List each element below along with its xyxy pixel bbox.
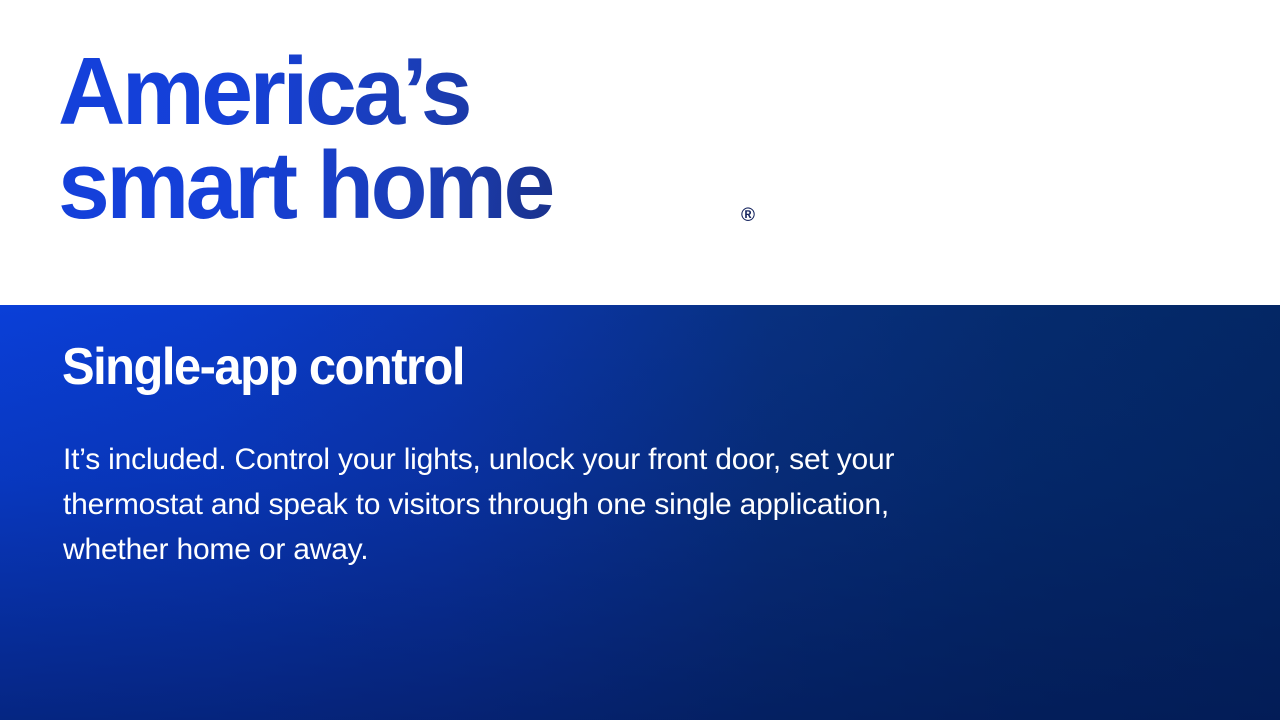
- content-panel: Single-app control It’s included. Contro…: [0, 305, 1280, 720]
- page-title: Single-app control: [62, 337, 464, 397]
- body-copy-line-2: thermostat and speak to visitors through…: [63, 482, 1193, 527]
- brand-lockup: America’s smart home ®: [58, 46, 758, 232]
- body-copy-line-3: whether home or away.: [63, 527, 1193, 572]
- brand-line-smart-home: smart home: [58, 140, 737, 232]
- body-copy-line-1: It’s included. Control your lights, unlo…: [63, 437, 1193, 482]
- slide-root: America’s smart home ® Single-app contro…: [0, 0, 1280, 720]
- registered-trademark-icon: ®: [741, 204, 765, 228]
- body-copy: It’s included. Control your lights, unlo…: [63, 437, 1193, 572]
- brand-line-americas: America’s: [58, 46, 737, 138]
- brand-band: America’s smart home ®: [0, 0, 1280, 305]
